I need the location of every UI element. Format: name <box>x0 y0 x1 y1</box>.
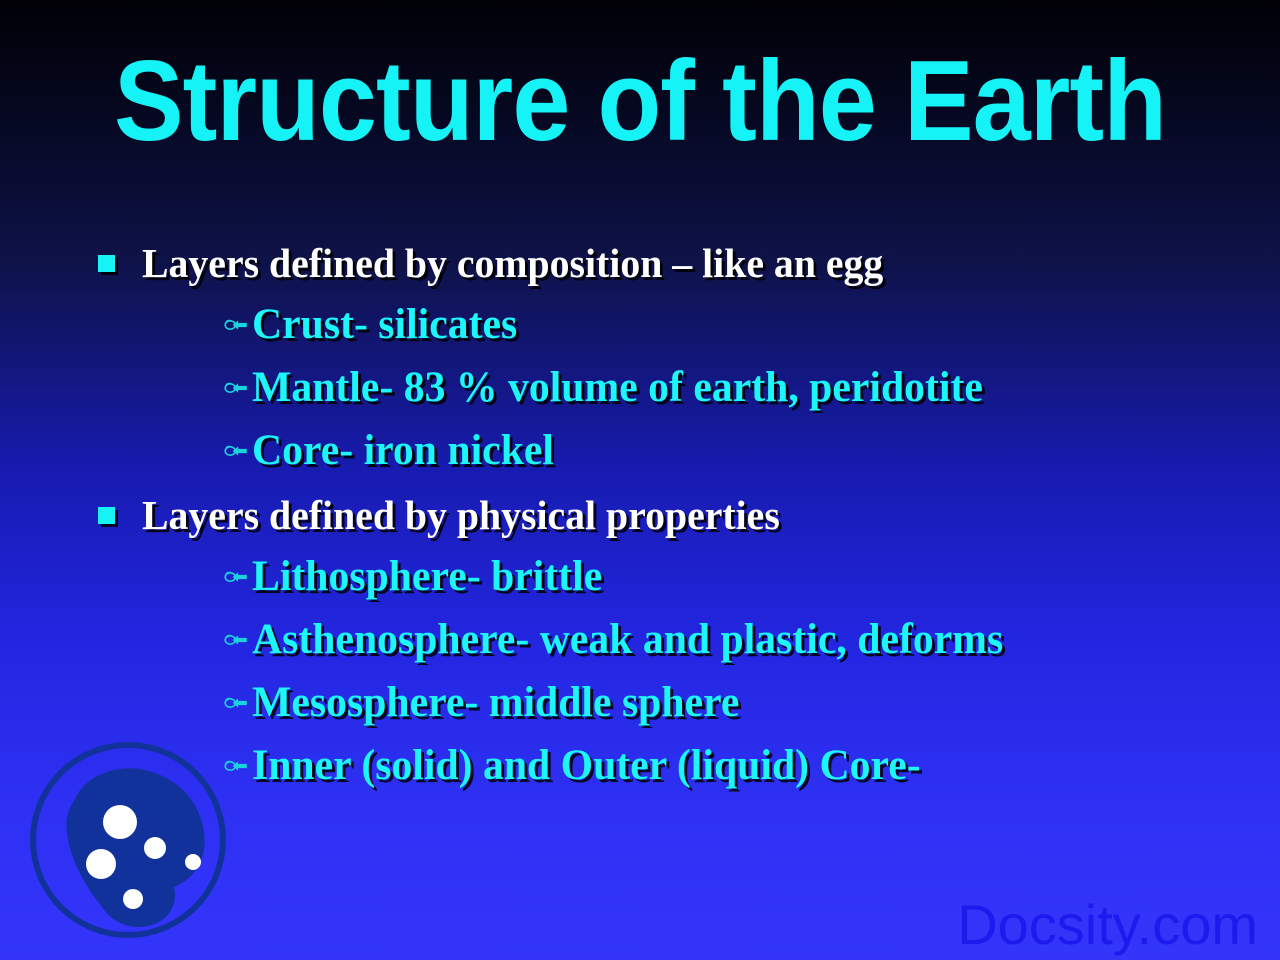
list-item: Crust- silicates <box>0 293 1280 356</box>
pointing-hand-bullet-icon <box>224 566 248 588</box>
pointing-hand-bullet-icon <box>224 629 248 651</box>
list-item-label: Lithosphere- brittle <box>252 554 602 600</box>
list-item: Lithosphere- brittle <box>0 545 1280 608</box>
list-item: Mesosphere- middle sphere <box>0 671 1280 734</box>
list-item-label: Inner (solid) and Outer (liquid) Core- <box>252 743 921 789</box>
list-item: Mantle- 83 % volume of earth, peridotite <box>0 356 1280 419</box>
docsity-watermark: Docsity.com <box>957 896 1258 954</box>
pointing-hand-bullet-icon <box>224 440 248 462</box>
square-bullet-icon <box>98 255 115 272</box>
list-item: Layers defined by composition – like an … <box>0 233 1280 293</box>
list-item: Layers defined by physical properties <box>0 485 1280 545</box>
list-item-label: Crust- silicates <box>252 302 517 348</box>
list-item: Core- iron nickel <box>0 419 1280 482</box>
pointing-hand-bullet-icon <box>224 377 248 399</box>
list-item-label: Mantle- 83 % volume of earth, peridotite <box>252 365 983 411</box>
page-title: Structure of the Earth <box>54 46 1225 158</box>
bullet-list: Layers defined by composition – like an … <box>0 233 1280 797</box>
list-item: Asthenosphere- weak and plastic, deforms <box>0 608 1280 671</box>
list-item-label: Core- iron nickel <box>252 428 554 474</box>
square-bullet-icon <box>98 507 115 524</box>
docsity-blob-logo <box>28 737 233 947</box>
list-item-label: Layers defined by composition – like an … <box>142 241 883 285</box>
pointing-hand-bullet-icon <box>224 314 248 336</box>
list-item-label: Mesosphere- middle sphere <box>252 680 739 726</box>
list-item-label: Layers defined by physical properties <box>142 493 780 537</box>
list-item-label: Asthenosphere- weak and plastic, deforms <box>252 617 1003 663</box>
presentation-slide: Structure of the Earth Layers defined by… <box>0 0 1280 960</box>
pointing-hand-bullet-icon <box>224 692 248 714</box>
